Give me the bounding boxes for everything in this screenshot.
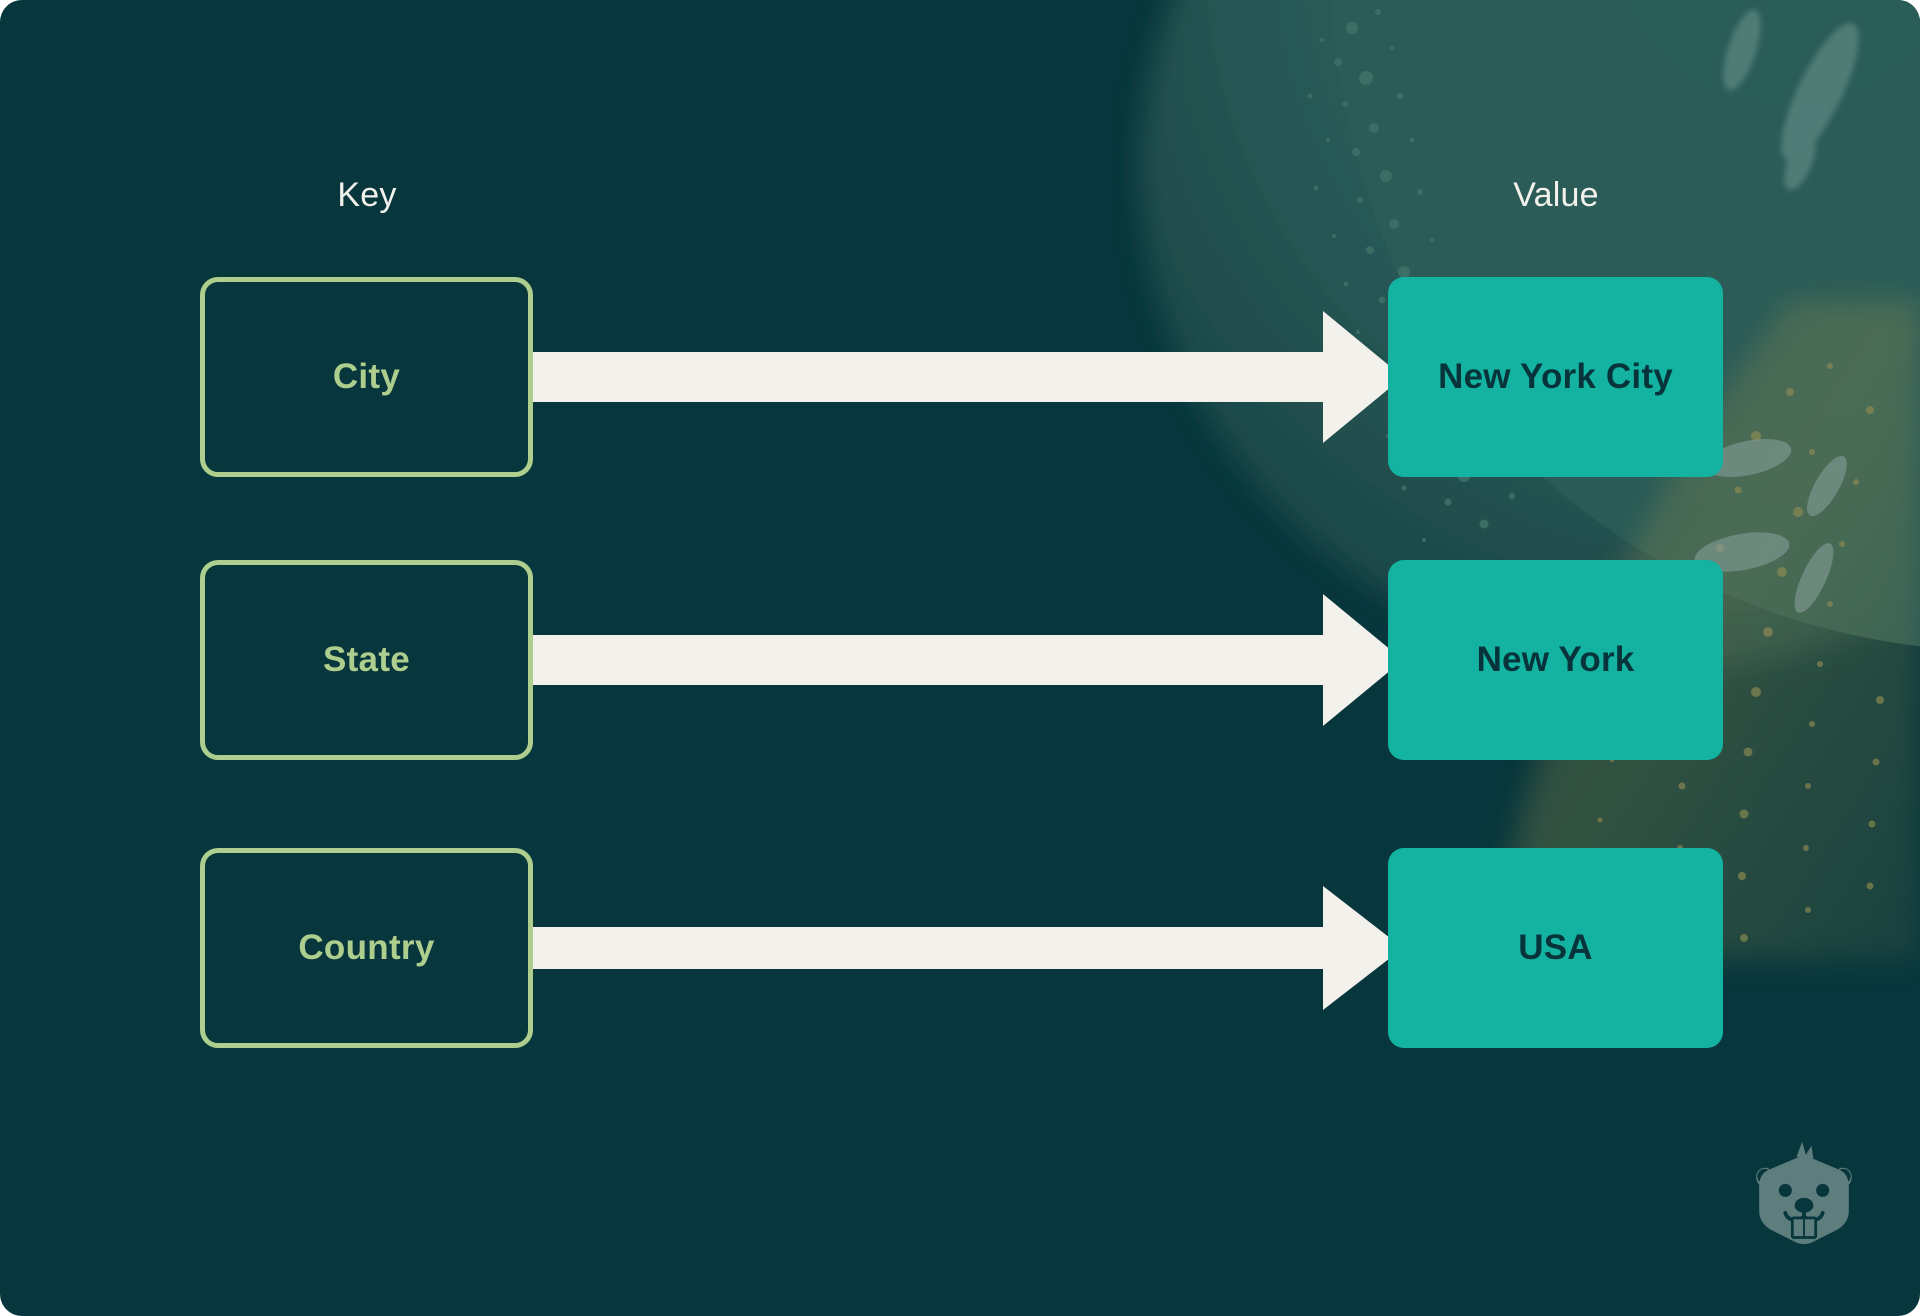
key-label: State (323, 640, 410, 680)
key-label: City (333, 357, 400, 397)
mapping-row: State New York (0, 560, 1920, 760)
key-label: Country (298, 928, 434, 968)
mapping-arrow-icon (533, 848, 1403, 1048)
value-label: New York (1477, 640, 1635, 680)
key-box-city[interactable]: City (200, 277, 533, 477)
key-box-state[interactable]: State (200, 560, 533, 760)
value-box-usa[interactable]: USA (1388, 848, 1723, 1048)
value-label: USA (1518, 928, 1593, 968)
key-box-country[interactable]: Country (200, 848, 533, 1048)
value-box-new-york[interactable]: New York (1388, 560, 1723, 760)
value-box-new-york-city[interactable]: New York City (1388, 277, 1723, 477)
beaver-logo-icon (1748, 1140, 1860, 1252)
column-header-key: Key (337, 176, 396, 215)
mapping-arrow-icon (533, 560, 1403, 760)
diagram-canvas: Key Value City New York City State New Y… (0, 0, 1920, 1316)
mapping-row: Country USA (0, 848, 1920, 1048)
value-label: New York City (1438, 357, 1673, 397)
column-header-value: Value (1513, 176, 1598, 215)
mapping-arrow-icon (533, 277, 1403, 477)
mapping-row: City New York City (0, 277, 1920, 477)
